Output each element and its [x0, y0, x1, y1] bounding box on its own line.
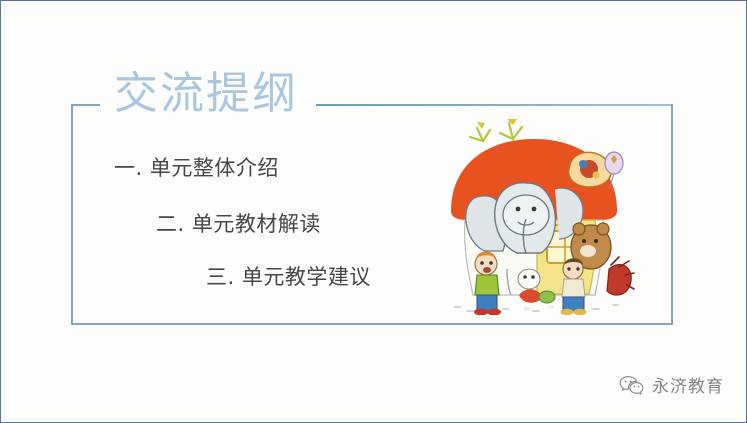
page-title: 交流提纲: [114, 72, 298, 116]
frame-top-stub-line: [71, 104, 100, 106]
mushroom-house-illustration: [433, 119, 635, 315]
outline-item-2[interactable]: 二. 单元教材解读: [156, 214, 321, 235]
frame-bottom-line: [71, 323, 673, 325]
frame-top-long-line: [316, 104, 673, 106]
outline-item-3[interactable]: 三. 单元教学建议: [206, 267, 371, 288]
watermark: 永济教育: [619, 372, 724, 397]
watermark-label: 永济教育: [652, 372, 724, 397]
wechat-icon: [619, 375, 645, 395]
slide-canvas: 交流提纲 一. 单元整体介绍 二. 单元教材解读 三. 单元教学建议: [0, 0, 747, 423]
frame-left-line: [71, 104, 73, 325]
outline-item-1[interactable]: 一. 单元整体介绍: [114, 158, 279, 179]
frame-right-line: [671, 104, 673, 325]
